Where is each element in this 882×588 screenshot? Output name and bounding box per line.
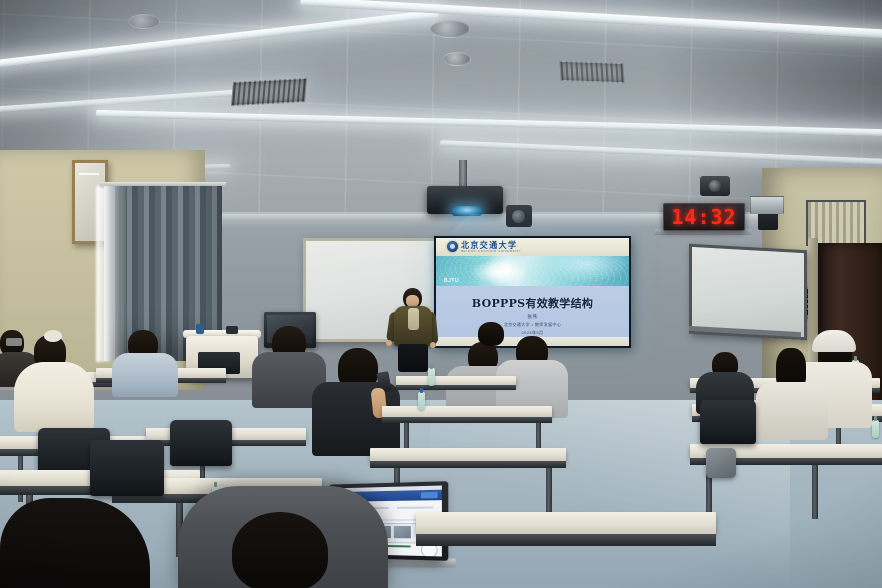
student-chair[interactable] [170, 420, 232, 466]
podium-bottle [196, 324, 204, 334]
text-line [397, 506, 434, 508]
slide-title: BOPPPS有效教学结构 [436, 295, 629, 311]
student-desk [416, 512, 716, 534]
student-chair[interactable] [90, 440, 164, 496]
curtain-highlight [104, 186, 126, 361]
slide-banner-texture [436, 256, 629, 286]
backpack [706, 448, 736, 478]
desk-leg [812, 465, 818, 519]
presenter-hand-right [430, 342, 436, 348]
smoke-detector-icon [430, 20, 470, 38]
presenter-hand-left [386, 340, 392, 346]
slide-banner-badge: BJTU [444, 278, 459, 284]
ceiling-sign [750, 196, 784, 214]
classroom-scene-photo: 北京交通大学 BEIJING JIAOTONG UNIVERSITY BJTU … [0, 0, 882, 588]
student-torso [14, 362, 94, 432]
projection-screen: 北京交通大学 BEIJING JIAOTONG UNIVERSITY BJTU … [434, 236, 631, 348]
hair-clip-icon [44, 330, 62, 342]
digital-clock: 14:32 [663, 203, 745, 231]
thumbnail-image [394, 526, 411, 538]
presentation-slide: 北京交通大学 BEIJING JIAOTONG UNIVERSITY BJTU … [436, 238, 629, 346]
slide-subtitle-affiliation: 北京交通大学 • 教师发展中心 [436, 322, 629, 328]
smoke-detector-icon [128, 14, 160, 29]
podium-device [226, 326, 238, 334]
student-desk [370, 448, 566, 461]
air-vent-icon [559, 61, 624, 83]
whiteboard-side [689, 244, 807, 341]
login-button[interactable] [421, 492, 438, 499]
foreground-student-head [232, 512, 328, 588]
clock-time-display: 14:32 [664, 204, 744, 230]
water-bottle [872, 420, 879, 438]
university-logo-icon [447, 241, 458, 252]
student-eyeglasses-icon [6, 338, 22, 346]
projector-lens-icon [452, 206, 482, 216]
water-bottle [428, 368, 435, 386]
student-torso [756, 382, 828, 440]
projector-mount-pole [459, 160, 467, 188]
ceiling-speaker-icon [506, 205, 532, 227]
smoke-detector-icon [443, 52, 471, 66]
projector-glare-spot [480, 252, 532, 286]
air-vent-icon [231, 78, 307, 106]
student-head [478, 322, 504, 346]
presenter-legs [398, 344, 428, 372]
student-desk [396, 376, 516, 385]
presenter-shirt [408, 308, 419, 330]
desk-edge [396, 385, 516, 390]
desk-edge [416, 534, 716, 546]
water-bottle [418, 392, 425, 410]
slide-subtitle-presenter: 张燕 [436, 314, 629, 320]
student-desk [382, 406, 552, 417]
desk-edge [370, 461, 566, 468]
student-chair[interactable] [700, 400, 756, 444]
student-torso [112, 353, 178, 397]
ceiling-camera-icon [700, 176, 730, 196]
